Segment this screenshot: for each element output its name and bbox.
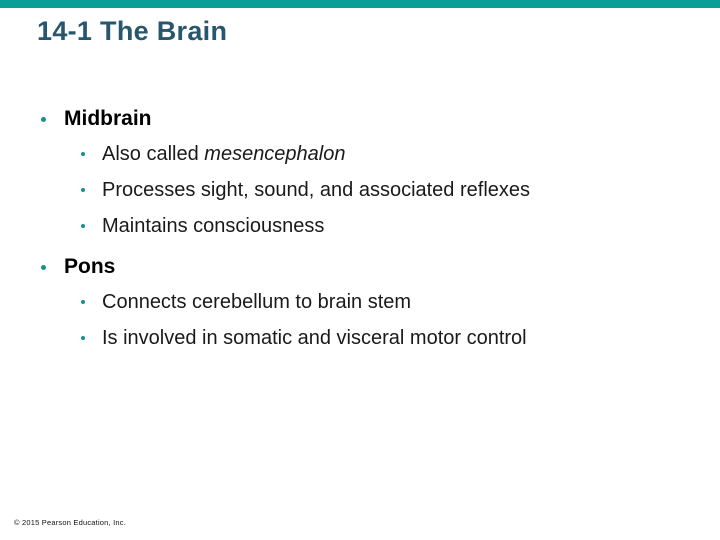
bullet-level1: Pons xyxy=(0,252,720,282)
bullet-level2-emphasis: mesencephalon xyxy=(204,143,345,165)
slide-canvas: 14-1 The Brain Midbrain Also called mese… xyxy=(0,0,720,540)
bullet-level2-text: Is involved in somatic and visceral moto… xyxy=(102,327,527,349)
bullet-level2-text: Connects cerebellum to brain stem xyxy=(102,291,411,313)
bullet-level1-label: Midbrain xyxy=(64,107,152,130)
bullet-level2-text: Maintains consciousness xyxy=(102,215,324,237)
bullet-level1: Midbrain xyxy=(0,104,720,134)
bullet-dot-icon xyxy=(81,300,85,304)
top-accent-bar xyxy=(0,0,720,8)
slide-body: Midbrain Also called mesencephalon Proce… xyxy=(0,104,720,356)
bullet-dot-icon xyxy=(81,152,85,156)
bullet-dot-icon xyxy=(41,265,46,270)
bullet-level2: Maintains consciousness xyxy=(0,208,720,244)
bullet-level2-text: Also called xyxy=(102,143,204,165)
bullet-level2: Connects cerebellum to brain stem xyxy=(0,284,720,320)
page-title: 14-1 The Brain xyxy=(37,16,227,47)
bullet-level2: Also called mesencephalon xyxy=(0,136,720,172)
bullet-dot-icon xyxy=(81,336,85,340)
bullet-dot-icon xyxy=(41,117,46,122)
bullet-level2: Is involved in somatic and visceral moto… xyxy=(0,320,720,356)
bullet-level2-text: Processes sight, sound, and associated r… xyxy=(102,179,530,201)
bullet-dot-icon xyxy=(81,224,85,228)
bullet-level1-label: Pons xyxy=(64,255,115,278)
bullet-dot-icon xyxy=(81,188,85,192)
bullet-level2: Processes sight, sound, and associated r… xyxy=(0,172,720,208)
copyright-notice: © 2015 Pearson Education, Inc. xyxy=(14,518,126,527)
group-spacer xyxy=(0,244,720,252)
